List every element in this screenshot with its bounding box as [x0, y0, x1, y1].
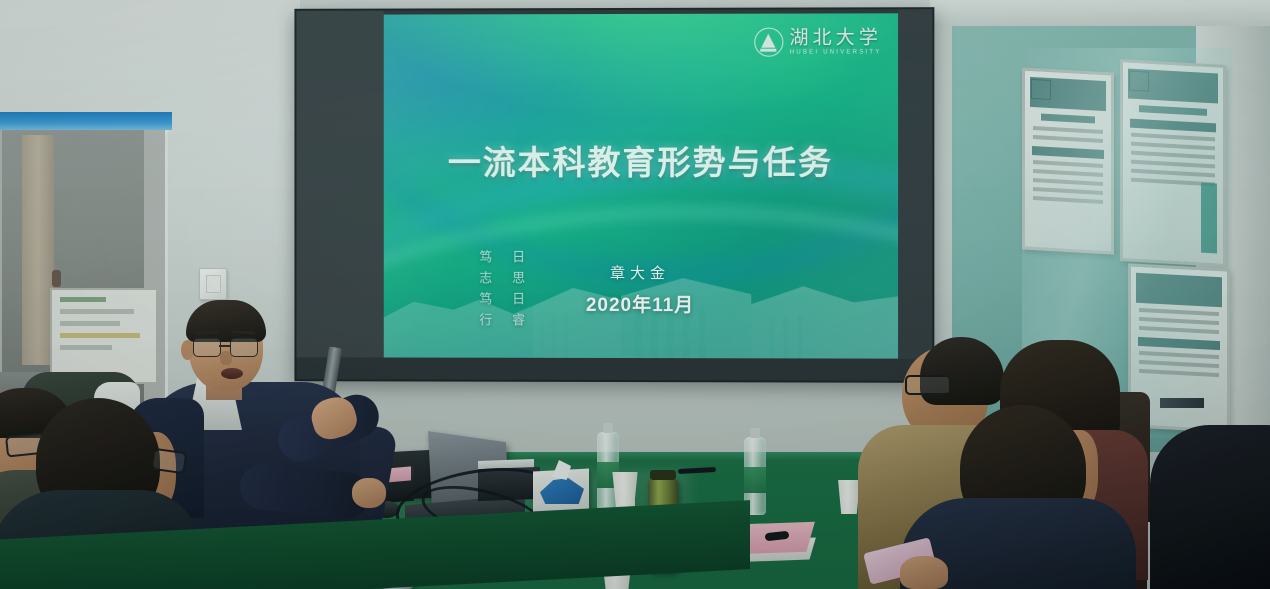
university-name-cn: 湖北大学 — [789, 28, 882, 47]
presenter-lower-hand — [352, 478, 386, 508]
screen-bezel-left — [296, 11, 383, 380]
university-name-en: HUBEI UNIVERSITY — [790, 49, 882, 55]
presentation-slide: 湖北大学 HUBEI UNIVERSITY 一流本科教育形势与任务 章大金 20… — [384, 13, 898, 358]
board-header — [1128, 68, 1218, 103]
notice-board-1 — [1022, 67, 1114, 254]
hubei-university-emblem-icon — [754, 28, 783, 57]
board-bar — [1032, 146, 1104, 159]
board-title — [1139, 105, 1207, 116]
motto-line-right: 日思日睿 — [508, 250, 527, 334]
board-header — [1136, 273, 1222, 308]
notice-board-2 — [1120, 59, 1226, 267]
light-switch[interactable] — [199, 268, 227, 300]
presenter-mouth — [221, 368, 243, 379]
slide-title: 一流本科教育形势与任务 — [384, 136, 898, 184]
motto-line-left: 笃志笃行 — [475, 250, 494, 334]
presenter-nose — [220, 351, 232, 365]
projection-screen: 湖北大学 HUBEI UNIVERSITY 一流本科教育形势与任务 章大金 20… — [294, 7, 934, 383]
attendee-right-3-hand — [900, 556, 948, 589]
board-bar — [1138, 337, 1220, 350]
screen-bezel-right — [898, 9, 932, 381]
presentation-room-photo: 湖北大学 HUBEI UNIVERSITY 一流本科教育形势与任务 章大金 20… — [0, 0, 1270, 589]
wall-fixture-right — [1160, 398, 1204, 408]
board-title — [1041, 113, 1095, 123]
slide-motto: 日思日睿 笃志笃行 — [475, 250, 527, 334]
doorway-poster — [50, 288, 158, 384]
board-header — [1030, 77, 1106, 111]
university-logo: 湖北大学 HUBEI UNIVERSITY — [754, 27, 882, 56]
door-handle-icon — [52, 270, 61, 287]
board-accent — [1201, 183, 1217, 254]
screen-bezel-bottom — [296, 357, 932, 381]
attendee-right-4-foreground — [1150, 425, 1270, 589]
ceiling-strip — [930, 0, 1270, 26]
doorway-blue-trim — [0, 112, 172, 130]
slide-author: 章大金 — [384, 262, 898, 284]
slide-date: 2020年11月 — [384, 290, 898, 318]
attendee-left-1-glasses — [151, 448, 188, 475]
board-bar — [1130, 119, 1216, 133]
attendee-right-1-glasses — [905, 375, 951, 395]
